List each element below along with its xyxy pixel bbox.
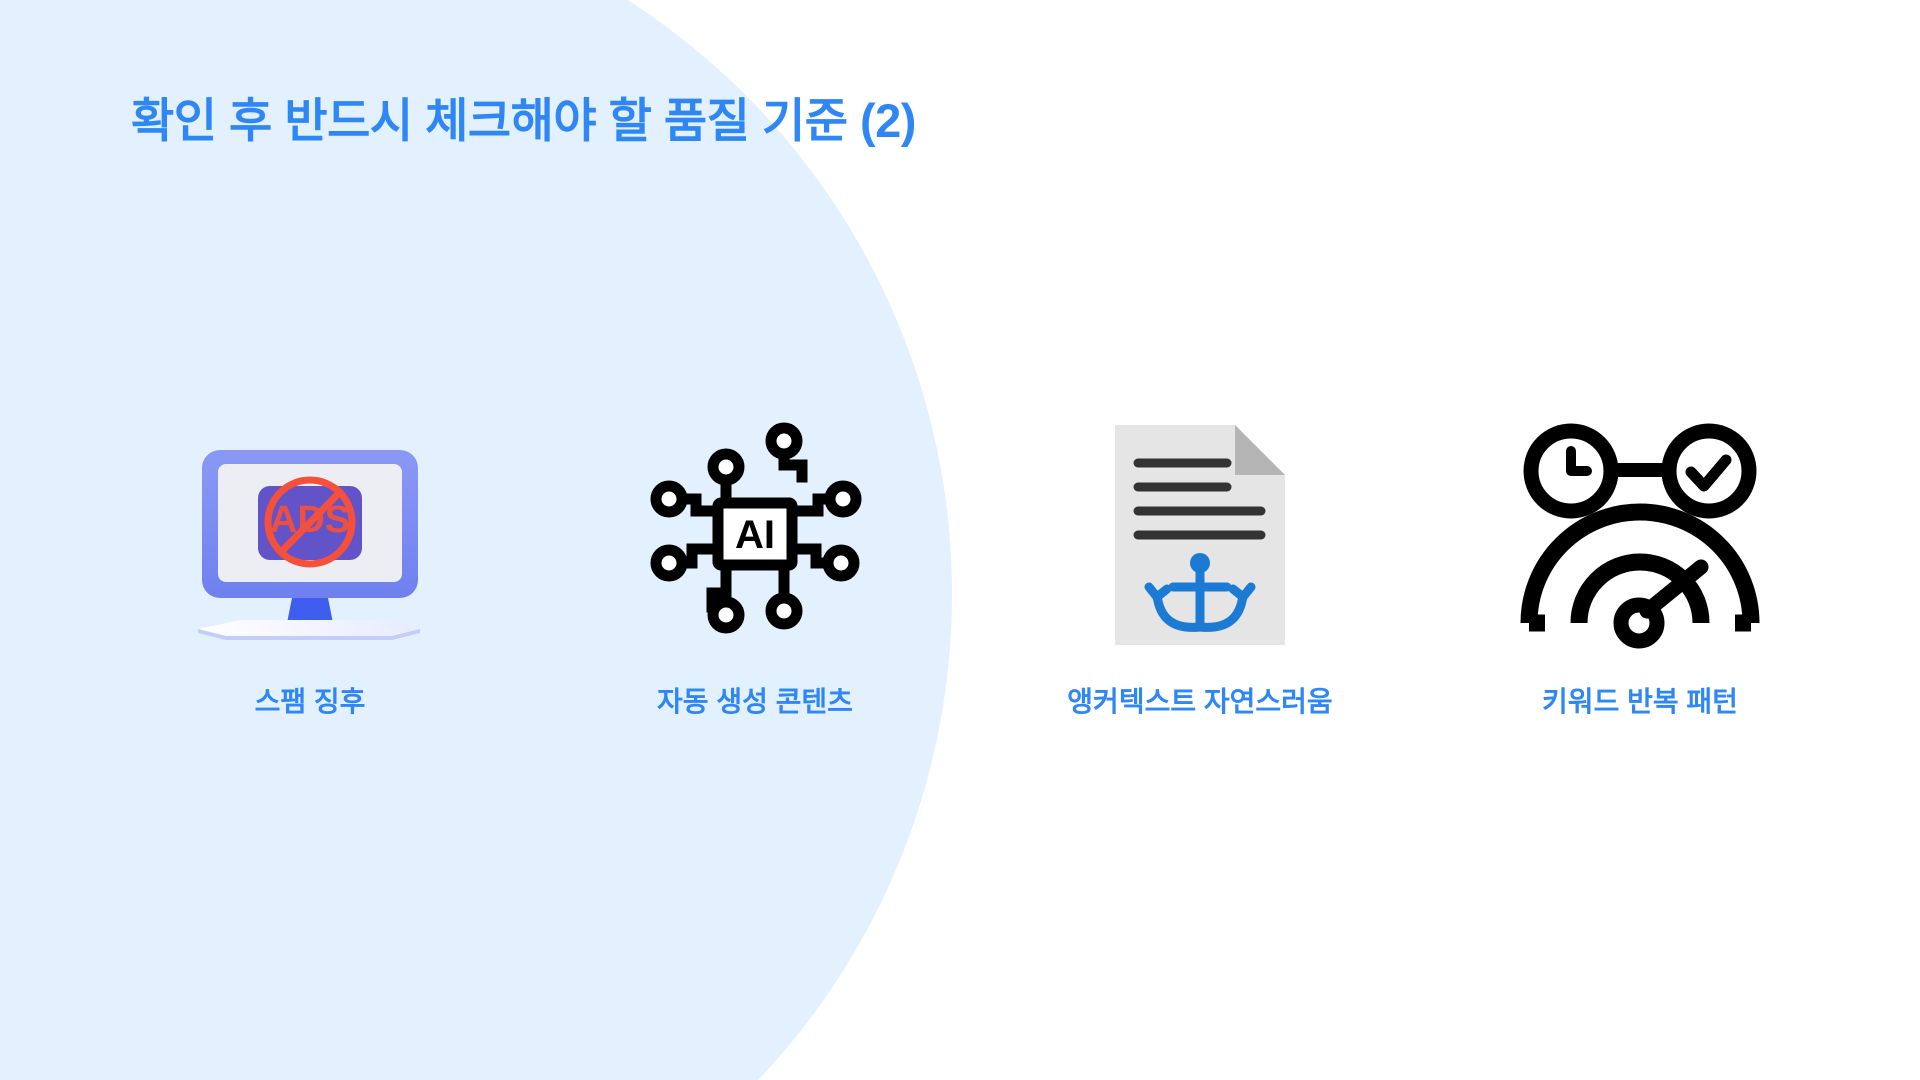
card-label: 앵커텍스트 자연스러움 [1050, 680, 1350, 720]
card-anchor-text-naturalness[interactable]: 앵커텍스트 자연스러움 [1050, 400, 1350, 720]
card-icon-wrapper [1490, 400, 1790, 670]
no-ads-monitor-icon: ADS [180, 430, 440, 640]
card-label: 자동 생성 콘텐츠 [605, 680, 905, 720]
card-keyword-repetition-pattern[interactable]: 키워드 반복 패턴 [1490, 400, 1790, 720]
ai-chip-icon: AI [630, 415, 880, 655]
card-icon-wrapper: ADS [160, 400, 460, 670]
page-title: 확인 후 반드시 체크해야 할 품질 기준 (2) [131, 82, 916, 151]
card-row: ADS 스팸 징후 [0, 0, 1920, 1080]
slide-canvas: 확인 후 반드시 체크해야 할 품질 기준 (2) [0, 0, 1920, 1080]
card-icon-wrapper [1050, 400, 1350, 670]
ai-chip-label: AI [735, 513, 775, 557]
card-icon-wrapper: AI [605, 400, 905, 670]
card-label: 스팸 징후 [160, 680, 460, 720]
card-spam-signals[interactable]: ADS 스팸 징후 [160, 400, 460, 720]
speedometer-clock-check-icon [1515, 415, 1765, 655]
card-label: 키워드 반복 패턴 [1490, 680, 1790, 720]
document-anchor-icon [1095, 415, 1305, 655]
card-auto-generated-content[interactable]: AI 자동 생성 콘텐츠 [605, 400, 905, 720]
